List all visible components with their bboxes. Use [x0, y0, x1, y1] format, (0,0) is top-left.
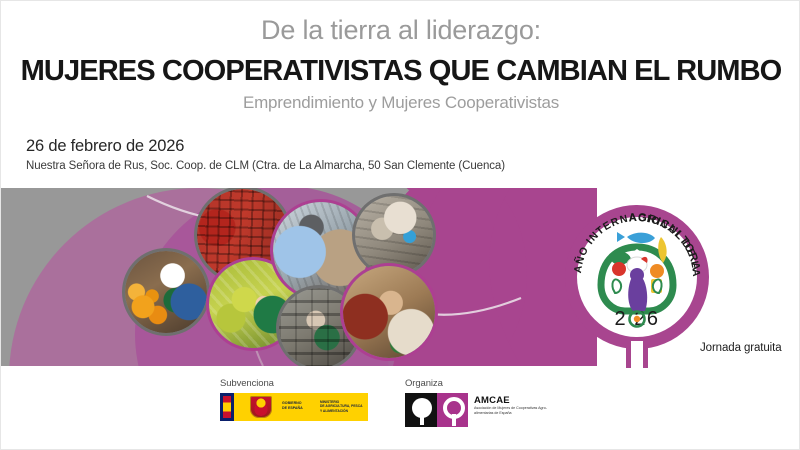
- poster-header: De la tierra al liderazgo: MUJERES COOPE…: [1, 1, 800, 123]
- page-title: MUJERES COOPERATIVISTAS QUE CAMBIAN EL R…: [0, 54, 800, 88]
- gobierno-de-espana-logo: GOBIERNO DE ESPAÑA MINISTERIO DE AGRICUL…: [220, 393, 368, 421]
- free-event-note: Jornada gratuita: [700, 342, 782, 354]
- amcae-description: Asociación de Mujeres de Cooperativas Ag…: [474, 406, 560, 415]
- ministerio-line3: Y ALIMENTACIÓN: [320, 409, 348, 413]
- gobierno-line2: DE ESPAÑA: [282, 406, 303, 410]
- spain-flag-icon: [220, 393, 234, 421]
- subvenciona-label: Subvenciona: [220, 378, 368, 389]
- poster-canvas: De la tierra al liderazgo: MUJERES COOPE…: [0, 0, 800, 450]
- gobierno-line1: GOBIERNO: [282, 401, 302, 405]
- amcae-text: AMCAE Asociación de Mujeres de Cooperati…: [468, 393, 560, 415]
- poster-pretitle: De la tierra al liderazgo:: [1, 14, 800, 46]
- poster-subtitle: Emprendimiento y Mujeres Cooperativistas: [1, 92, 800, 114]
- photo-lab-worker: [355, 196, 433, 274]
- photo-office-women: [343, 266, 435, 358]
- sponsor-block-subvenciona: Subvenciona GOBIERNO DE ESPAÑA MINISTERI…: [220, 378, 368, 421]
- gobierno-text: GOBIERNO DE ESPAÑA: [282, 401, 303, 410]
- event-date: 26 de febrero de 2026: [26, 137, 184, 156]
- ministerio-text: MINISTERIO DE AGRICULTURA, PESCA Y ALIME…: [320, 400, 363, 413]
- amcae-mark-black-icon: [405, 393, 437, 427]
- aia-2026-logo: AÑO INTERNACIONAL DE LA AGRICULTORA: [557, 193, 717, 368]
- sponsor-block-organiza: Organiza AMCAE Asociación de Mujeres de …: [405, 378, 560, 427]
- organiza-label: Organiza: [405, 378, 560, 389]
- amcae-name: AMCAE: [474, 395, 560, 406]
- photo-oranges-packing: [125, 251, 207, 333]
- amcae-logo: AMCAE Asociación de Mujeres de Cooperati…: [405, 393, 560, 427]
- amcae-mark-purple-icon: [437, 393, 469, 427]
- event-venue: Nuestra Señora de Rus, Soc. Coop. de CLM…: [26, 160, 505, 172]
- spain-coat-of-arms-icon: [250, 396, 272, 418]
